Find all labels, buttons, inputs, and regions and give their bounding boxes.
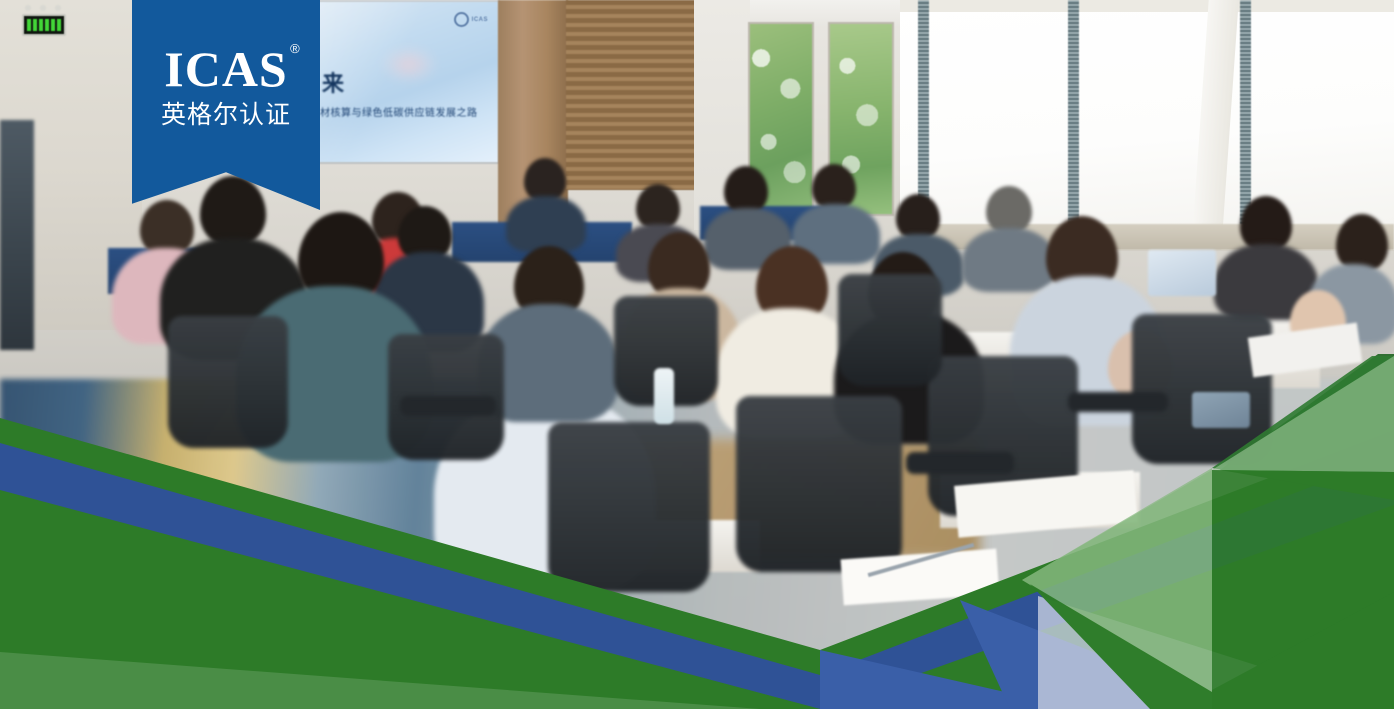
tablet-device — [1148, 250, 1216, 296]
icas-logo-content: ICAS ® 英格尔认证 — [132, 44, 320, 127]
attendee-body — [962, 228, 1056, 292]
water-bottle — [654, 368, 674, 424]
slide-logo-text: ICAS — [472, 17, 488, 23]
chair-back — [168, 316, 288, 448]
doorway-shadow — [0, 120, 34, 350]
icas-wordmark-text: ICAS — [164, 41, 287, 97]
slide-subtitle: 材核算与绿色低碳供应链发展之路 — [320, 104, 478, 119]
sign-mount-screws — [24, 4, 62, 12]
slide-logo-ring — [454, 12, 469, 27]
exit-sign — [22, 14, 66, 36]
window-frame-top — [900, 0, 1394, 12]
window-mullion — [1068, 0, 1079, 250]
chair-back — [838, 274, 942, 386]
slide-brand-mark: ICAS — [454, 12, 488, 27]
window-pillar — [1191, 0, 1238, 250]
attendee-head — [986, 186, 1032, 234]
registered-trademark-icon: ® — [290, 42, 301, 55]
chair-back — [548, 422, 710, 592]
chair-armrest — [906, 452, 1014, 474]
phone-device — [1192, 392, 1250, 428]
attendee-body — [506, 196, 586, 252]
chair-armrest — [400, 396, 496, 416]
icas-wordmark: ICAS ® — [164, 44, 287, 94]
attendee-head — [724, 166, 768, 214]
projection-screen: ICAS 来 材核算与绿色低碳供应链发展之路 — [316, 2, 498, 162]
attendee-head — [200, 176, 266, 246]
chair-armrest — [1068, 392, 1168, 412]
icas-chinese-name: 英格尔认证 — [132, 102, 320, 127]
window-blinds — [566, 0, 698, 190]
projector-glare — [382, 47, 437, 82]
window-wall — [900, 0, 1394, 250]
slide-title: 来 — [322, 66, 344, 98]
icas-event-banner: ICAS 来 材核算与绿色低碳供应链发展之路 — [0, 0, 1394, 709]
chair-back — [736, 396, 902, 572]
